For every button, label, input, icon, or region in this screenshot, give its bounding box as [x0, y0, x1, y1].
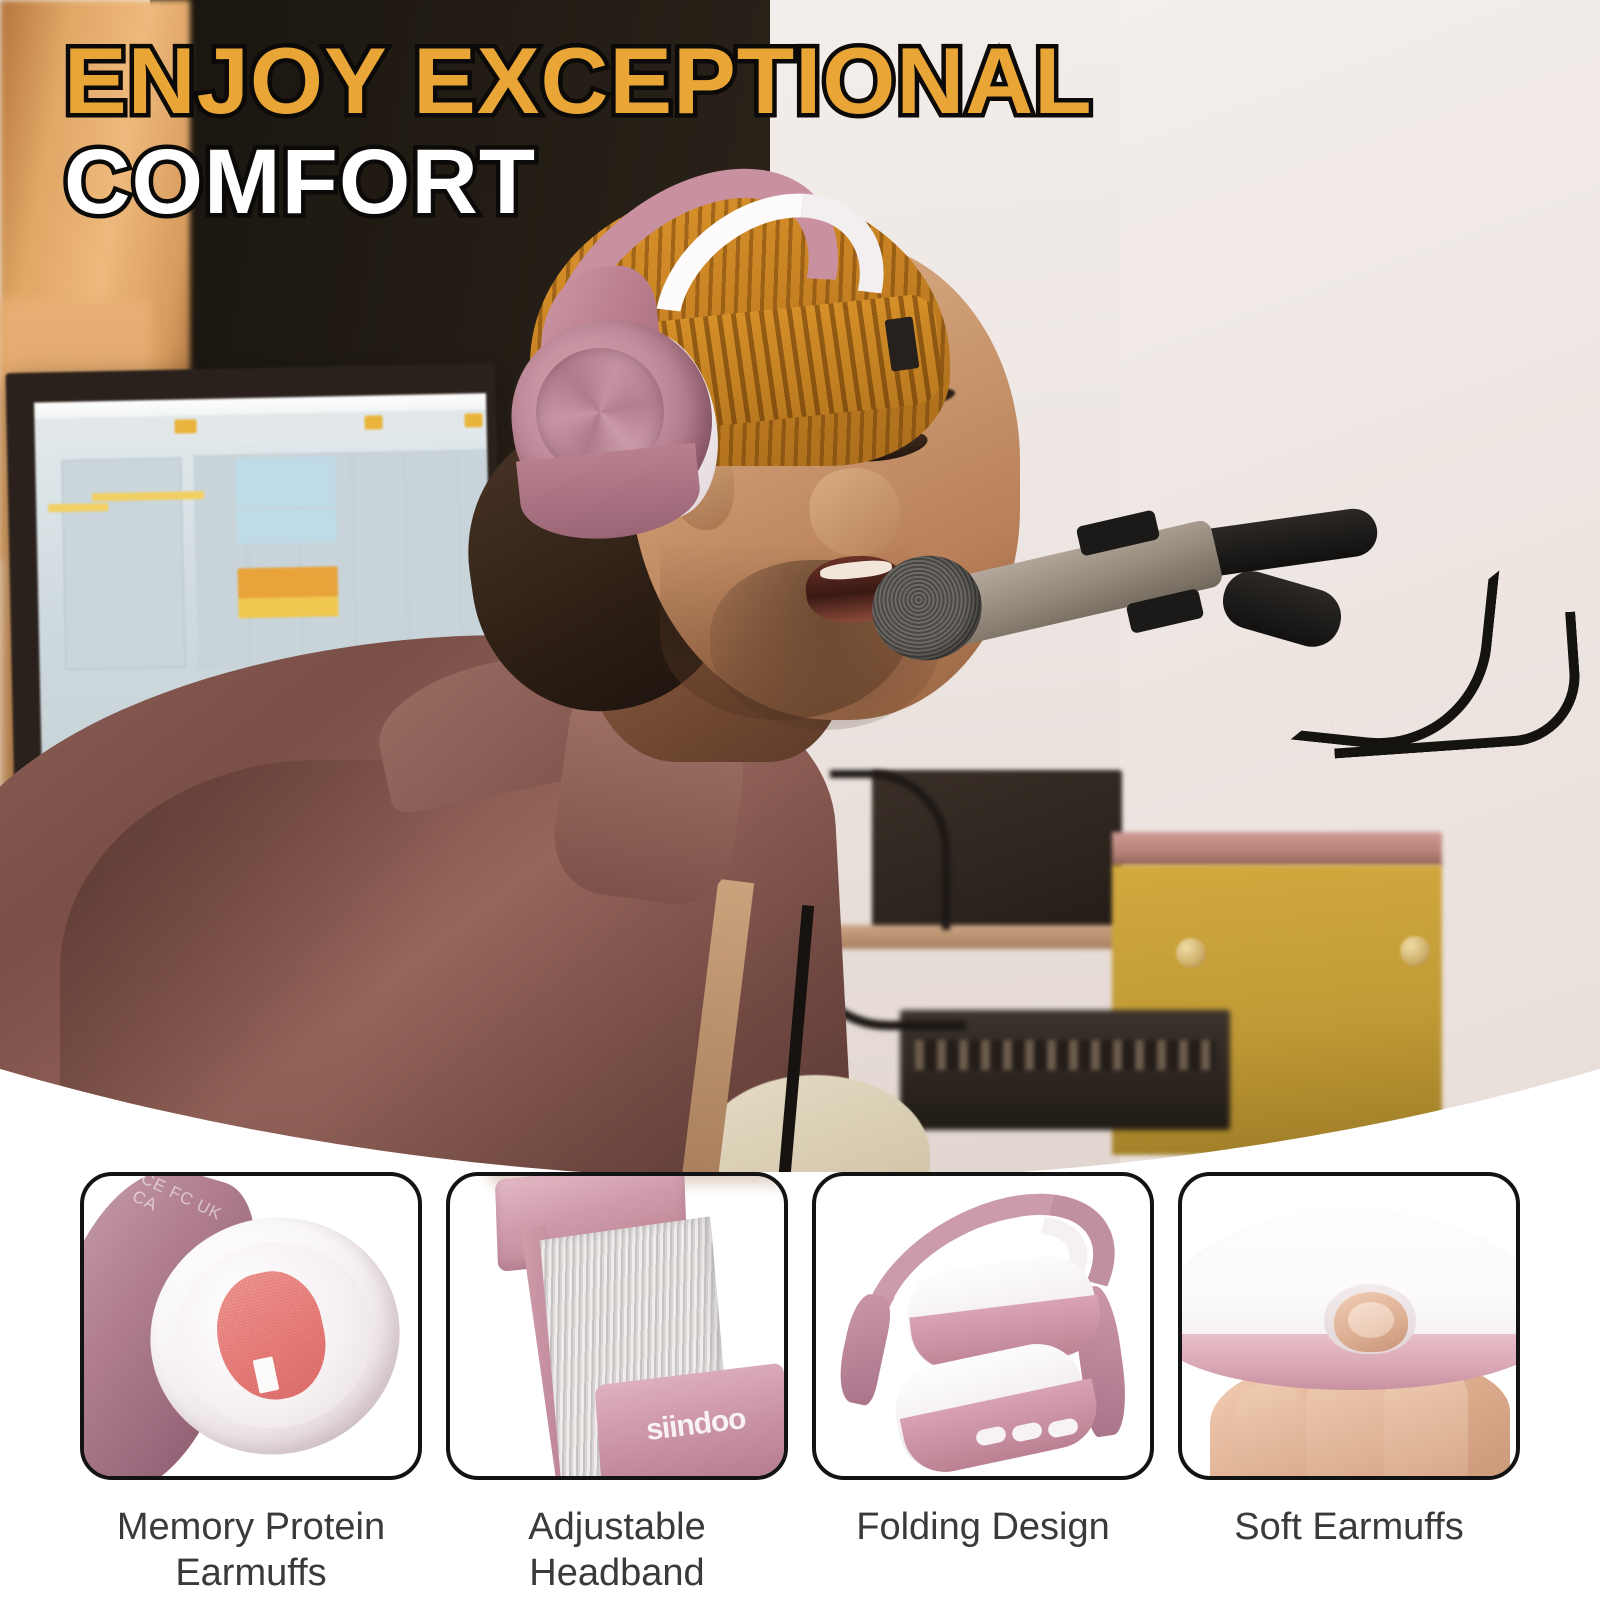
headband-illustration: siindoo: [450, 1176, 784, 1476]
folded-headphones-illustration: [816, 1176, 1150, 1476]
feature-thumbnail-earcup[interactable]: CE FC UK CA: [80, 1172, 422, 1480]
person-shirt-shadow: [60, 760, 580, 1180]
feature-caption-line-2: Earmuffs: [117, 1550, 385, 1596]
feature-caption-line-1: Memory Protein: [117, 1504, 385, 1550]
finger: [1234, 1382, 1308, 1480]
feature-caption-line-2: Headband: [528, 1550, 705, 1596]
feature-caption-folding: Folding Design: [856, 1504, 1109, 1550]
amplifier-top-panel: [1112, 832, 1442, 866]
feature-strip: CE FC UK CA Memory Protein Earmuffs siin…: [0, 1172, 1600, 1600]
daw-clip: [236, 508, 337, 544]
daw-clip: [238, 566, 339, 598]
daw-toolbar-button: [364, 415, 382, 429]
feature-memory-protein-earmuffs[interactable]: CE FC UK CA Memory Protein Earmuffs: [80, 1172, 422, 1600]
earcup-illustration: CE FC UK CA: [84, 1176, 418, 1476]
daw-automation-lane: [92, 491, 204, 501]
feature-folding-design[interactable]: Folding Design: [812, 1172, 1154, 1600]
feature-adjustable-headband[interactable]: siindoo Adjustable Headband: [446, 1172, 788, 1600]
hero-photo: [0, 0, 1600, 1180]
rack-knob-row: [915, 1040, 1215, 1070]
amplifier-knob: [1400, 936, 1430, 966]
feature-caption-line-1: Adjustable: [528, 1504, 705, 1550]
thumbnail-nail: [1348, 1302, 1394, 1338]
daw-toolbar-button: [464, 413, 482, 427]
hero-banner: [0, 0, 1600, 1180]
daw-clip: [235, 456, 336, 508]
daw-clip: [238, 596, 338, 618]
feature-thumbnail-headband[interactable]: siindoo: [446, 1172, 788, 1480]
daw-toolbar-button: [174, 419, 196, 433]
daw-browser-panel: [61, 458, 185, 670]
feature-caption-earmuffs: Memory Protein Earmuffs: [117, 1504, 385, 1597]
feature-caption-headband: Adjustable Headband: [528, 1504, 705, 1597]
daw-toolbar: [34, 409, 486, 444]
daw-automation-lane: [48, 503, 108, 512]
feature-thumbnail-soft-cushion[interactable]: [1178, 1172, 1520, 1480]
feature-soft-earmuffs[interactable]: Soft Earmuffs: [1178, 1172, 1520, 1600]
amplifier-knob: [1176, 938, 1206, 968]
soft-cushion-illustration: [1182, 1176, 1516, 1476]
feature-caption-line-1: Soft Earmuffs: [1234, 1504, 1464, 1550]
feature-thumbnail-folding[interactable]: [812, 1172, 1154, 1480]
feature-caption-line-1: Folding Design: [856, 1504, 1109, 1550]
feature-caption-soft-earmuffs: Soft Earmuffs: [1234, 1504, 1464, 1550]
